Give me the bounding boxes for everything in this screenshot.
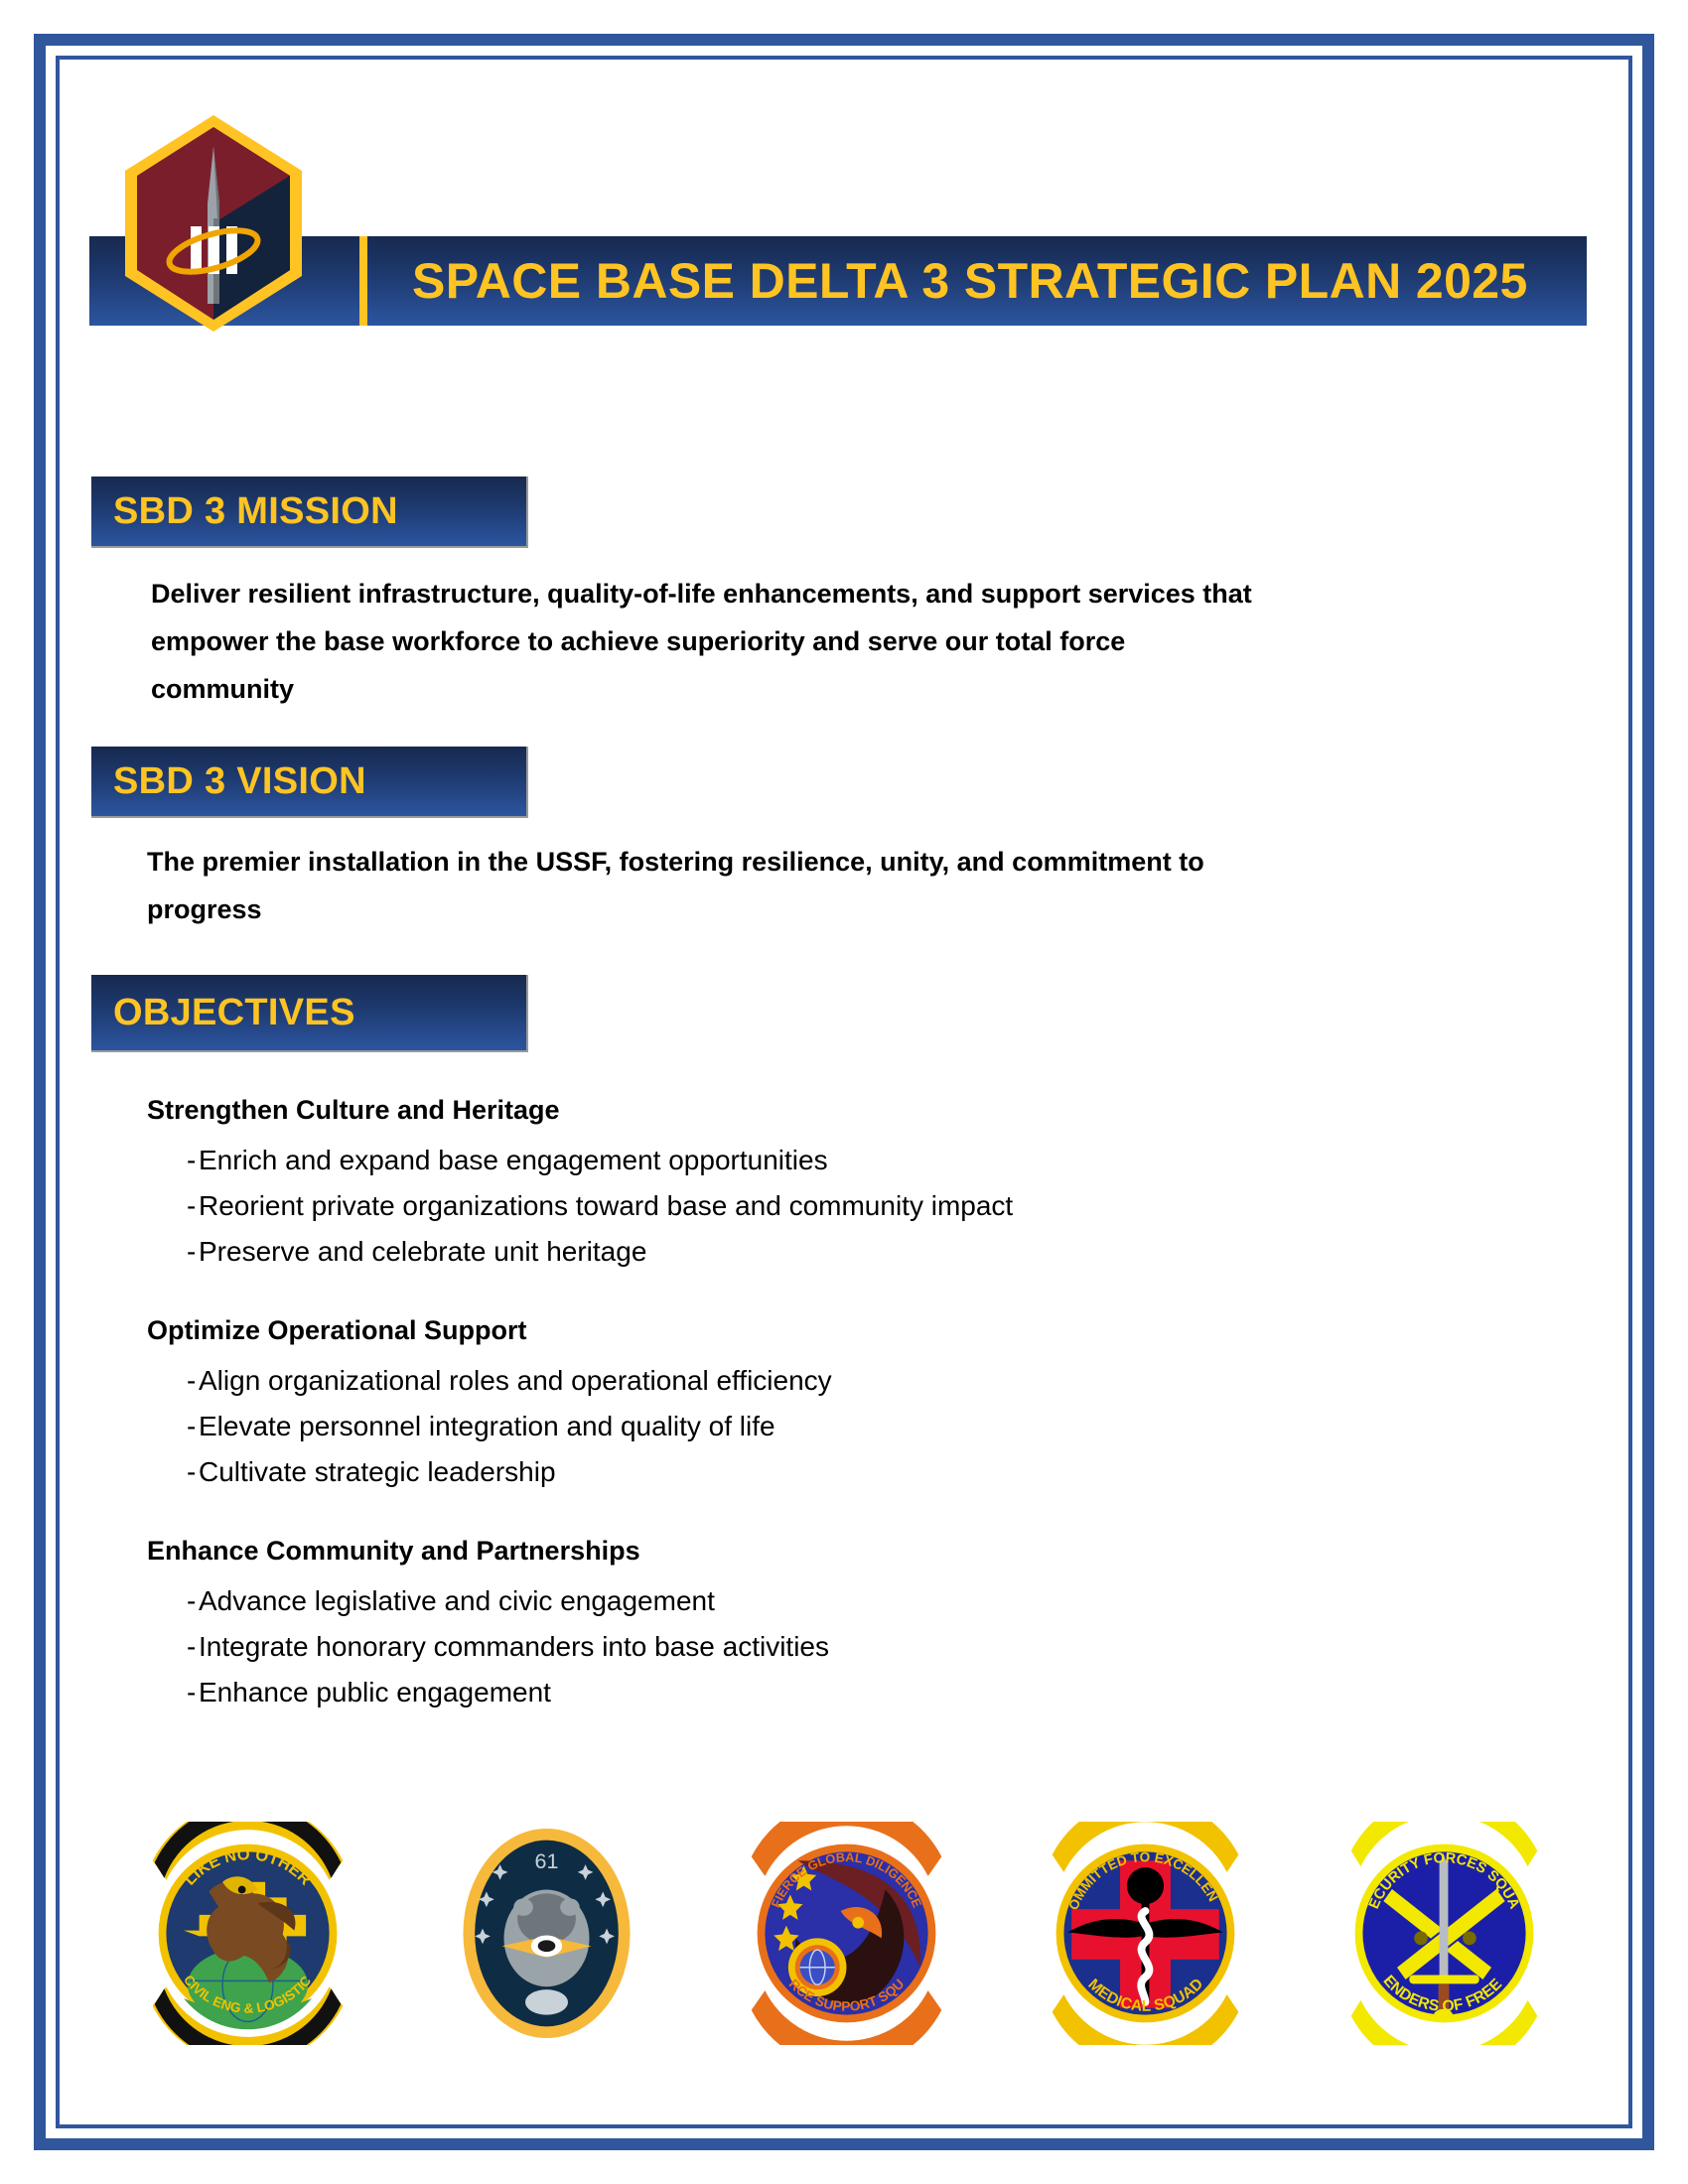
- objectives-list: Strengthen Culture and Heritage-Enrich a…: [147, 1090, 1438, 1751]
- unit-patch-security-forces-squadron: 61st SECURITY FORCES SQUADRONDEFENDERS O…: [1337, 1822, 1551, 2045]
- objective-item: -Preserve and celebrate unit heritage: [147, 1229, 1438, 1275]
- objective-item: -Advance legislative and civic engagemen…: [147, 1578, 1438, 1624]
- page-content: SPACE BASE DELTA 3 STRATEGIC PLAN 2025: [62, 62, 1626, 2122]
- objective-group-title: Strengthen Culture and Heritage: [147, 1090, 1438, 1130]
- objective-item-label: Integrate honorary commanders into base …: [199, 1624, 829, 1670]
- document-header: SPACE BASE DELTA 3 STRATEGIC PLAN 2025: [62, 62, 1626, 310]
- bullet-dash-icon: -: [147, 1624, 199, 1670]
- objective-items: -Enrich and expand base engagement oppor…: [147, 1138, 1438, 1275]
- space-base-delta-3-emblem-icon: [119, 109, 308, 338]
- unit-patch-medical-squadron: COMMITTED TO EXCELLENCE61st MEDICAL SQUA…: [1039, 1822, 1252, 2045]
- objective-item: -Enhance public engagement: [147, 1670, 1438, 1715]
- objective-item-label: Preserve and celebrate unit heritage: [199, 1229, 646, 1275]
- objective-item-label: Reorient private organizations toward ba…: [199, 1183, 1013, 1229]
- bullet-dash-icon: -: [147, 1138, 199, 1183]
- bullet-dash-icon: -: [147, 1229, 199, 1275]
- bullet-dash-icon: -: [147, 1578, 199, 1624]
- objective-item: -Integrate honorary commanders into base…: [147, 1624, 1438, 1670]
- objective-group-title: Optimize Operational Support: [147, 1310, 1438, 1350]
- mission-statement-text: Deliver resilient infrastructure, qualit…: [151, 570, 1253, 713]
- bullet-dash-icon: -: [147, 1449, 199, 1495]
- objective-group: Enhance Community and Partnerships-Advan…: [147, 1531, 1438, 1715]
- objective-item-label: Align organizational roles and operation…: [199, 1358, 832, 1404]
- objective-item: -Align organizational roles and operatio…: [147, 1358, 1438, 1404]
- objective-item-label: Cultivate strategic leadership: [199, 1449, 556, 1495]
- banner-gold-divider: [359, 236, 367, 326]
- bullet-dash-icon: -: [147, 1358, 199, 1404]
- objective-group-title: Enhance Community and Partnerships: [147, 1531, 1438, 1570]
- unit-patch-force-support-squadron: FIERCE GLOBAL DILIGENCE61st FORCE SUPPOR…: [740, 1822, 953, 2045]
- objective-item: -Enrich and expand base engagement oppor…: [147, 1138, 1438, 1183]
- section-heading-vision: SBD 3 VISION: [91, 747, 528, 818]
- objective-items: -Advance legislative and civic engagemen…: [147, 1578, 1438, 1715]
- objective-item-label: Advance legislative and civic engagement: [199, 1578, 715, 1624]
- objective-item: -Reorient private organizations toward b…: [147, 1183, 1438, 1229]
- unit-patch-squadron-61-oval: 61: [440, 1822, 653, 2045]
- vision-statement-text: The premier installation in the USSF, fo…: [147, 838, 1249, 933]
- objective-item-label: Elevate personnel integration and qualit…: [199, 1404, 775, 1449]
- section-heading-mission: SBD 3 MISSION: [91, 477, 528, 548]
- title-banner: SPACE BASE DELTA 3 STRATEGIC PLAN 2025: [89, 236, 1587, 326]
- section-heading-objectives: OBJECTIVES: [91, 975, 528, 1052]
- objective-item-label: Enrich and expand base engagement opport…: [199, 1138, 828, 1183]
- objective-item-label: Enhance public engagement: [199, 1670, 551, 1715]
- bullet-dash-icon: -: [147, 1404, 199, 1449]
- unit-patch-row: LIKE NO OTHER61st CIVIL ENG & LOGISTICS …: [121, 1819, 1571, 2047]
- objective-item: -Elevate personnel integration and quali…: [147, 1404, 1438, 1449]
- objective-items: -Align organizational roles and operatio…: [147, 1358, 1438, 1495]
- page-title: SPACE BASE DELTA 3 STRATEGIC PLAN 2025: [412, 236, 1577, 326]
- svg-text:61: 61: [535, 1849, 559, 1873]
- objective-group: Optimize Operational Support-Align organ…: [147, 1310, 1438, 1495]
- objective-group: Strengthen Culture and Heritage-Enrich a…: [147, 1090, 1438, 1275]
- bullet-dash-icon: -: [147, 1670, 199, 1715]
- objective-item: -Cultivate strategic leadership: [147, 1449, 1438, 1495]
- document-page: SPACE BASE DELTA 3 STRATEGIC PLAN 2025: [0, 0, 1688, 2184]
- unit-patch-civil-engineering-logistics: LIKE NO OTHER61st CIVIL ENG & LOGISTICS …: [141, 1822, 354, 2045]
- bullet-dash-icon: -: [147, 1183, 199, 1229]
